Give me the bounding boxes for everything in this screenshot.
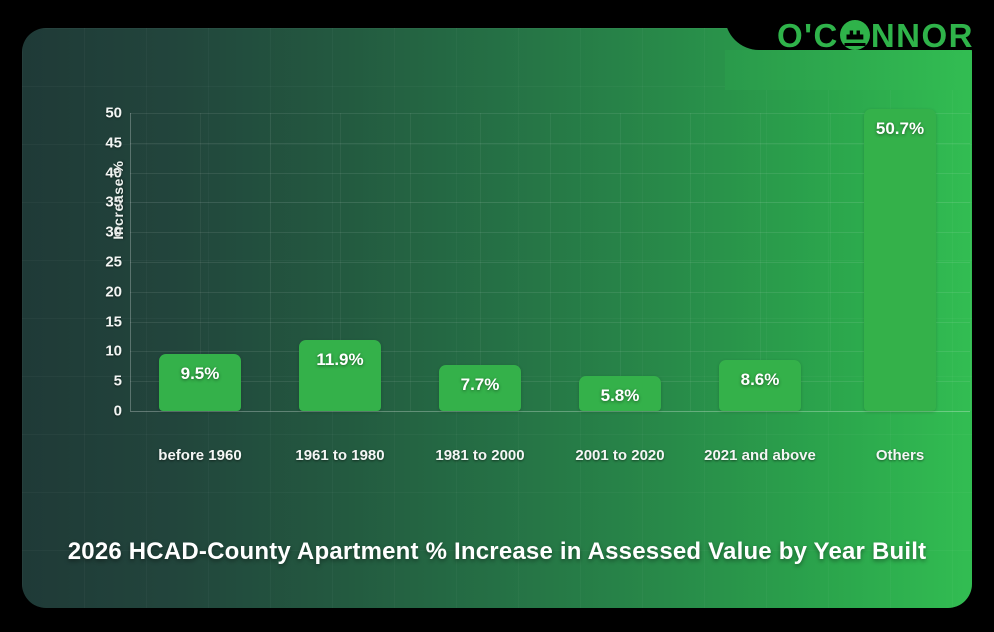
bar-5[interactable]: 50.7%: [864, 109, 936, 411]
gridline-horizontal: [130, 411, 970, 412]
x-tick-label: 1981 to 2000: [410, 447, 550, 464]
gridline-vertical: [620, 113, 621, 411]
x-tick-label: 1961 to 1980: [270, 447, 410, 464]
bar-value-label: 9.5%: [181, 364, 220, 384]
logo-text-before: O'C: [777, 19, 839, 52]
bar-3[interactable]: 5.8%: [579, 376, 661, 411]
bar-value-label: 5.8%: [601, 386, 640, 406]
bar-value-label: 11.9%: [316, 350, 363, 370]
y-tick-label: 10: [92, 343, 122, 360]
building-icon: [840, 20, 870, 50]
x-tick-label: 2021 and above: [690, 447, 830, 464]
y-tick-label: 50: [92, 105, 122, 122]
plot-area: 9.5%11.9%7.7%5.8%8.6%50.7%: [130, 113, 970, 411]
x-tick-label: 2001 to 2020: [550, 447, 690, 464]
bar-value-label: 8.6%: [741, 370, 780, 390]
chart-canvas: O'C NNOR 9.5%11.9%7.7%5.8%8.6%50.7% 0510…: [0, 0, 994, 632]
x-tick-label: before 1960: [130, 447, 270, 464]
gridline-vertical: [270, 113, 271, 411]
bar-4[interactable]: 8.6%: [719, 360, 801, 411]
bar-0[interactable]: 9.5%: [159, 354, 241, 411]
gridline-vertical: [130, 113, 131, 411]
y-axis-label: Increase %: [110, 130, 126, 270]
gridline-vertical: [690, 113, 691, 411]
y-tick-label: 20: [92, 283, 122, 300]
gridline-vertical: [970, 113, 971, 411]
bar-value-label: 50.7%: [876, 119, 924, 139]
chart-title: 2026 HCAD-County Apartment % Increase in…: [22, 538, 972, 566]
gridline-vertical: [410, 113, 411, 411]
gridline-vertical: [830, 113, 831, 411]
y-tick-label: 15: [92, 313, 122, 330]
bar-2[interactable]: 7.7%: [439, 365, 521, 411]
x-tick-label: Others: [830, 447, 970, 464]
logo-text-after: NNOR: [871, 19, 974, 52]
y-tick-label: 5: [92, 373, 122, 390]
y-tick-label: 0: [92, 403, 122, 420]
gridline-vertical: [550, 113, 551, 411]
bar-value-label: 7.7%: [461, 375, 500, 395]
oconnor-logo: O'C NNOR: [777, 13, 974, 57]
logo-wordmark: O'C NNOR: [777, 19, 974, 52]
bar-1[interactable]: 11.9%: [299, 340, 381, 411]
